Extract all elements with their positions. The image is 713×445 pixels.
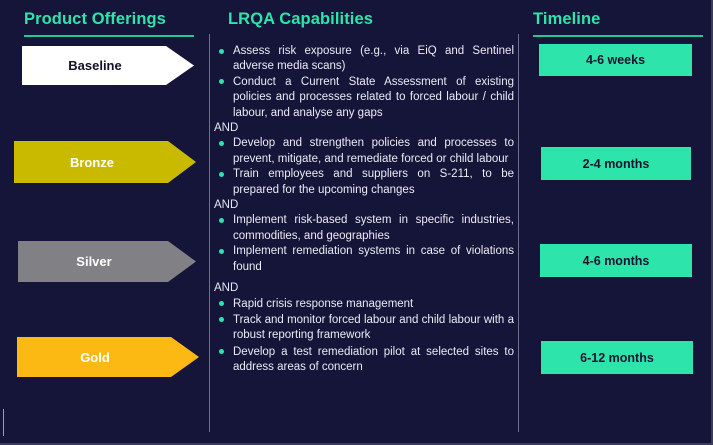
capability-item: Develop a test remediation pilot at sele… <box>214 345 514 376</box>
capability-item: Assess risk exposure (e.g., via EiQ and … <box>214 44 514 75</box>
column-header-timeline: Timeline <box>533 10 600 29</box>
text-cursor-caret <box>3 409 4 436</box>
capability-group: Assess risk exposure (e.g., via EiQ and … <box>214 44 514 121</box>
timeline-label: 4-6 months <box>583 254 650 268</box>
capability-text: Conduct a Current State Assessment of ex… <box>233 76 514 119</box>
capability-text: Rapid crisis response management <box>233 298 413 310</box>
connector-label: AND <box>214 121 514 136</box>
slide-canvas: Product Offerings LRQA Capabilities Time… <box>0 0 713 445</box>
capabilities-list: Assess risk exposure (e.g., via EiQ and … <box>214 44 514 377</box>
tier-chevron-silver[interactable]: Silver <box>18 241 196 282</box>
capability-group: AND Develop and strengthen policies and … <box>214 121 514 198</box>
bullet-icon <box>219 301 224 306</box>
capability-item: Implement remediation systems in case of… <box>214 244 514 275</box>
capability-items: Assess risk exposure (e.g., via EiQ and … <box>214 44 514 121</box>
capability-items: Rapid crisis response management Track a… <box>214 297 514 376</box>
capability-text: Implement remediation systems in case of… <box>233 245 514 272</box>
bullet-icon <box>219 172 224 177</box>
tier-label-bronze: Bronze <box>70 155 114 170</box>
capability-items: Develop and strengthen policies and proc… <box>214 136 514 198</box>
timeline-pill-bronze[interactable]: 2-4 months <box>541 147 691 180</box>
timeline-pill-gold[interactable]: 6-12 months <box>541 341 693 374</box>
tier-label-silver: Silver <box>76 254 111 269</box>
connector-label: AND <box>214 281 514 296</box>
capability-text: Train employees and suppliers on S-211, … <box>233 168 514 195</box>
capability-text: Develop and strengthen policies and proc… <box>233 137 514 164</box>
column-divider-left <box>209 34 210 432</box>
timeline-label: 6-12 months <box>580 351 654 365</box>
column-header-rule-timeline <box>533 35 703 37</box>
tier-chevron-baseline[interactable]: Baseline <box>22 46 194 85</box>
tier-chevron-bronze[interactable]: Bronze <box>14 141 196 183</box>
bullet-icon <box>219 349 224 354</box>
timeline-label: 2-4 months <box>583 157 650 171</box>
bullet-icon <box>219 49 224 54</box>
timeline-label: 4-6 weeks <box>586 53 645 67</box>
bullet-icon <box>219 218 224 223</box>
capability-group: AND Implement risk-based system in speci… <box>214 198 514 275</box>
timeline-pill-silver[interactable]: 4-6 months <box>540 244 692 277</box>
timeline-pill-baseline[interactable]: 4-6 weeks <box>539 44 692 76</box>
tier-label-gold: Gold <box>80 350 110 365</box>
column-divider-right <box>518 34 519 432</box>
capability-text: Develop a test remediation pilot at sele… <box>233 346 514 373</box>
capability-text: Implement risk-based system in specific … <box>233 214 514 241</box>
column-header-product-offerings: Product Offerings <box>24 10 166 29</box>
capability-text: Assess risk exposure (e.g., via EiQ and … <box>233 45 514 72</box>
capability-item: Implement risk-based system in specific … <box>214 213 514 244</box>
bullet-icon <box>219 141 224 146</box>
bullet-icon <box>219 317 224 322</box>
capability-item: Track and monitor forced labour and chil… <box>214 313 514 344</box>
bullet-icon <box>219 249 224 254</box>
capability-item: Conduct a Current State Assessment of ex… <box>214 75 514 121</box>
connector-label: AND <box>214 198 514 213</box>
tier-chevron-gold[interactable]: Gold <box>17 337 199 377</box>
capability-item: Train employees and suppliers on S-211, … <box>214 167 514 198</box>
capability-text: Track and monitor forced labour and chil… <box>233 314 514 341</box>
capability-group: AND Rapid crisis response management Tra… <box>214 281 514 375</box>
capability-item: Develop and strengthen policies and proc… <box>214 136 514 167</box>
bullet-icon <box>219 79 224 84</box>
column-header-lrqa-capabilities: LRQA Capabilities <box>228 10 373 29</box>
tier-label-baseline: Baseline <box>68 58 121 73</box>
capability-items: Implement risk-based system in specific … <box>214 213 514 275</box>
capability-item: Rapid crisis response management <box>214 297 514 312</box>
column-header-rule-product-offerings <box>24 35 194 37</box>
